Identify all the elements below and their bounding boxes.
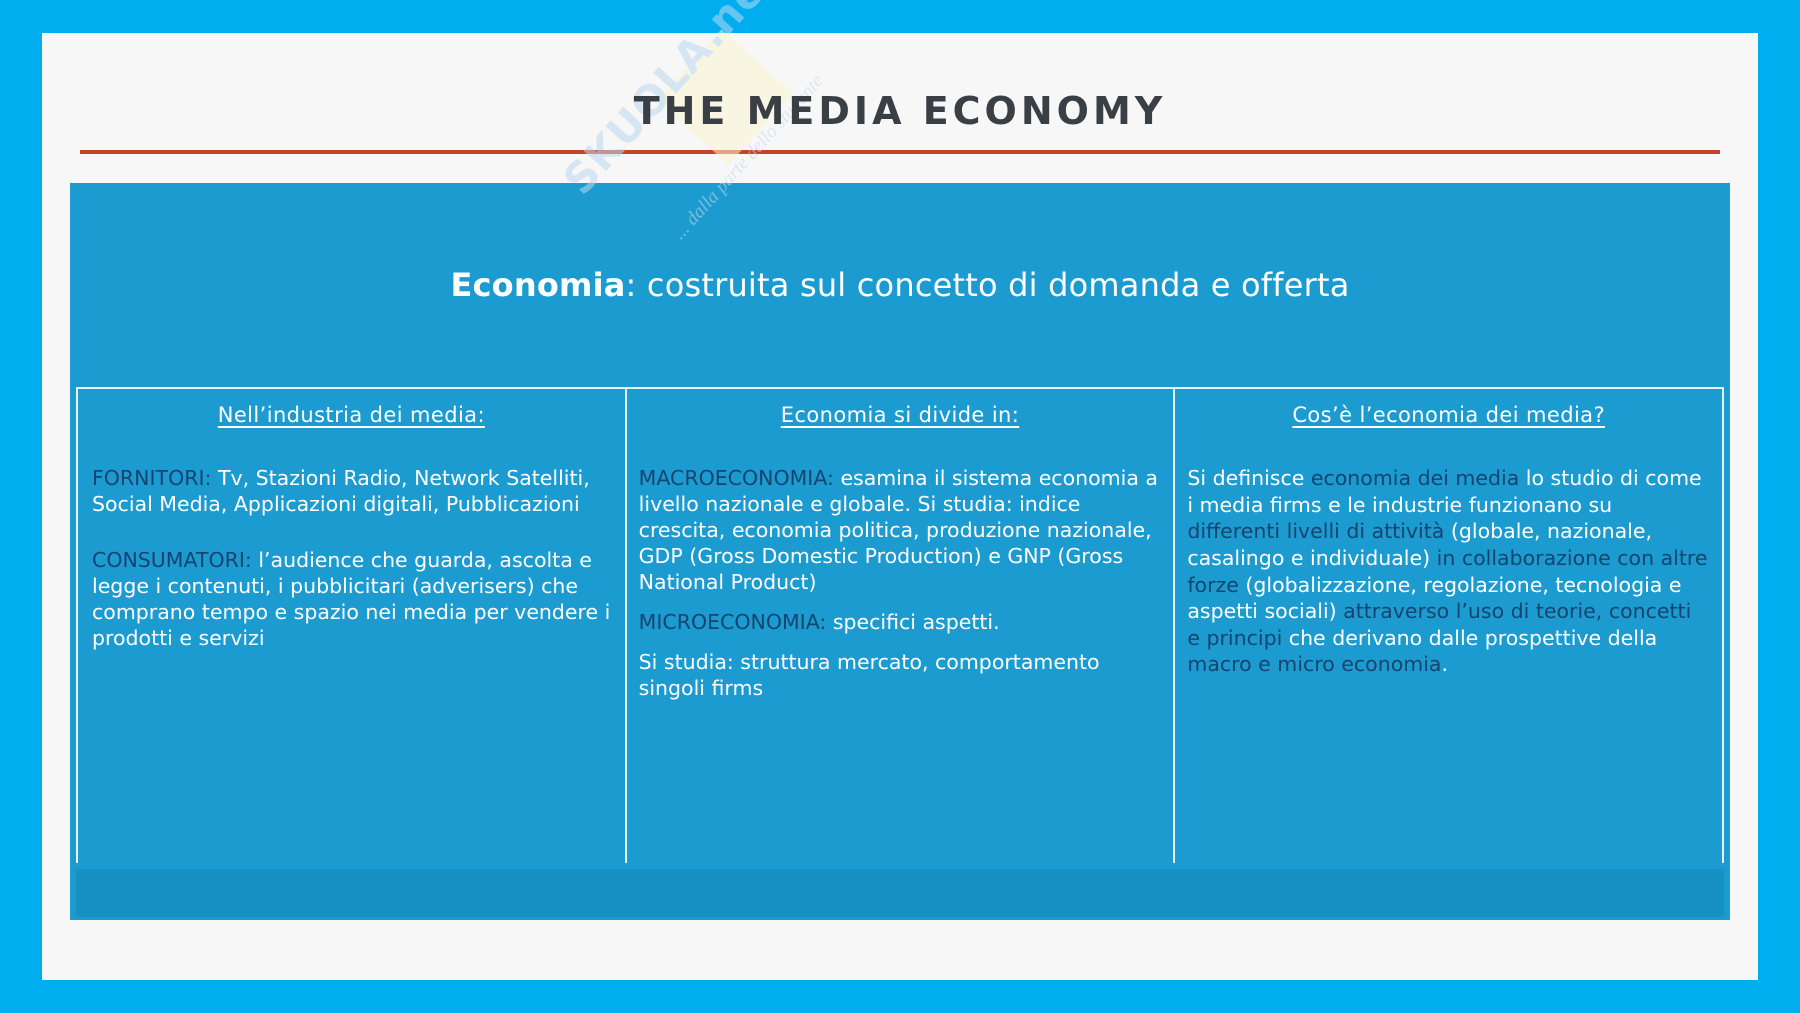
column-1-body: FORNITORI: Tv, Stazioni Radio, Network S… xyxy=(88,435,615,651)
block-microeconomia-separator: : xyxy=(819,610,832,634)
block-consumatori-separator: : xyxy=(245,548,258,572)
slide-page: SKUOLA.net ... dalla parte dello student… xyxy=(42,33,1758,980)
run-11: . xyxy=(1441,652,1448,676)
block-consumatori: CONSUMATORI: l’audience che guarda, asco… xyxy=(92,547,613,651)
banner-lead-word: Economia xyxy=(450,266,625,304)
column-3-heading: Cos’è l’economia dei media? xyxy=(1185,403,1712,427)
run-4: differenti livelli di attività xyxy=(1187,519,1444,543)
run-10: macro e micro economia xyxy=(1187,652,1441,676)
block-definizione: Si definisce economia dei media lo studi… xyxy=(1187,465,1710,678)
banner-rest-text: : costruita sul concetto di domanda e of… xyxy=(626,266,1350,304)
columns-container: Nell’industria dei media: FORNITORI: Tv,… xyxy=(76,387,1724,863)
run-1: Si definisce xyxy=(1187,466,1311,490)
column-2-heading: Economia si divide in: xyxy=(637,403,1164,427)
block-microeconomia-label: MICROECONOMIA xyxy=(639,610,820,634)
block-fornitori-label: FORNITORI xyxy=(92,466,205,490)
run-9: che derivano dalle prospettive della xyxy=(1282,626,1657,650)
slide-root: SKUOLA.net ... dalla parte dello student… xyxy=(0,0,1800,1013)
block-consumatori-label: CONSUMATORI xyxy=(92,548,245,572)
block-macroeconomia-label: MACROECONOMIA xyxy=(639,466,827,490)
block-sistudia-text: Si studia: struttura mercato, comportame… xyxy=(639,650,1100,700)
run-2: economia dei media xyxy=(1311,466,1519,490)
page-title: THE MEDIA ECONOMY xyxy=(42,89,1758,133)
footer-strip xyxy=(76,869,1724,917)
block-fornitori-separator: : xyxy=(205,466,218,490)
content-board: Economia: costruita sul concetto di doma… xyxy=(70,183,1730,920)
column-macro-micro: Economia si divide in: MACROECONOMIA: es… xyxy=(627,389,1176,863)
column-fornitori-consumatori: Nell’industria dei media: FORNITORI: Tv,… xyxy=(76,389,627,863)
banner-text: Economia: costruita sul concetto di doma… xyxy=(450,266,1349,304)
block-microeconomia: MICROECONOMIA: specifici aspetti. xyxy=(639,609,1162,635)
column-2-body: MACROECONOMIA: esamina il sistema econom… xyxy=(637,435,1164,701)
column-3-body: Si definisce economia dei media lo studi… xyxy=(1185,435,1712,678)
block-sistudia: Si studia: struttura mercato, comportame… xyxy=(639,649,1162,701)
block-macroeconomia: MACROECONOMIA: esamina il sistema econom… xyxy=(639,465,1162,595)
block-microeconomia-text: specifici aspetti. xyxy=(833,610,1000,634)
banner-section: Economia: costruita sul concetto di doma… xyxy=(70,183,1730,387)
column-1-heading: Nell’industria dei media: xyxy=(88,403,615,427)
column-definizione: Cos’è l’economia dei media? Si definisce… xyxy=(1175,389,1724,863)
title-divider-rule xyxy=(80,150,1720,154)
block-fornitori: FORNITORI: Tv, Stazioni Radio, Network S… xyxy=(92,465,613,517)
block-macroeconomia-separator: : xyxy=(827,466,840,490)
